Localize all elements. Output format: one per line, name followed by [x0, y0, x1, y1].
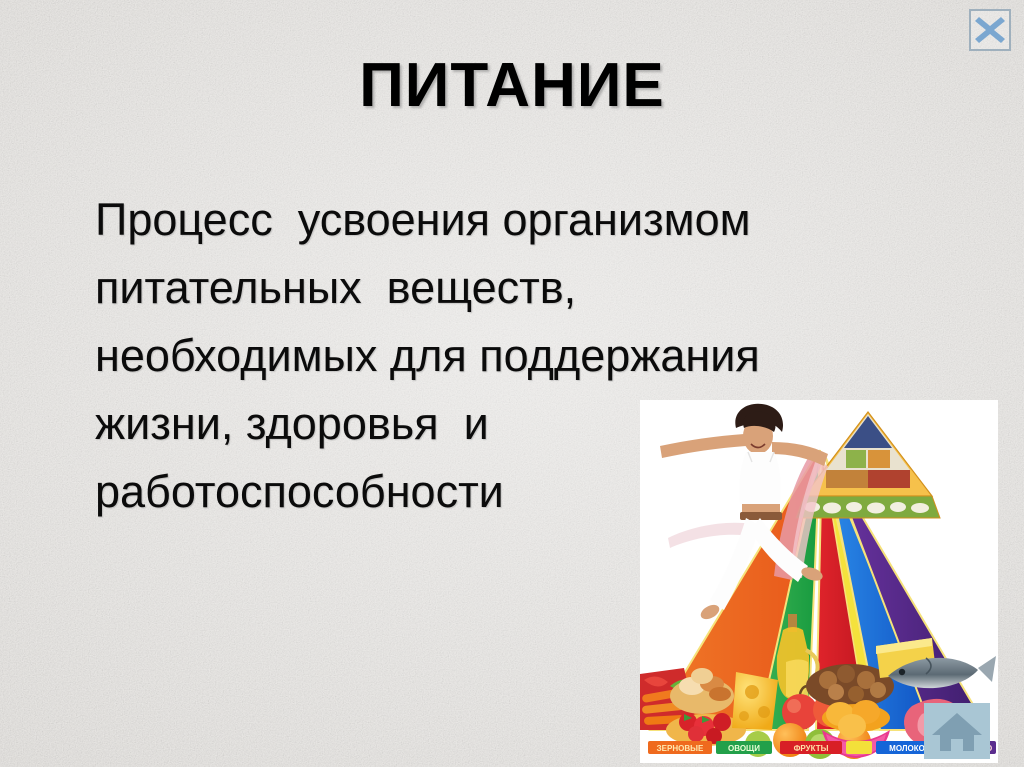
svg-text:ОВОЩИ: ОВОЩИ — [728, 744, 760, 753]
body-line-1: Процесс усвоения организмом — [95, 186, 975, 254]
band-fruits: ФРУКТЫ — [780, 741, 842, 754]
svg-text:ФРУКТЫ: ФРУКТЫ — [794, 744, 829, 753]
close-button[interactable] — [969, 9, 1011, 51]
home-icon — [924, 703, 990, 759]
slide-canvas: ПИТАНИЕ Процесс усвоения организмом пита… — [0, 0, 1024, 767]
band-oils — [846, 741, 872, 754]
band-grains: ЗЕРНОВЫЕ — [648, 741, 712, 754]
cheese — [732, 672, 778, 730]
band-vegetables: ОВОЩИ — [716, 741, 772, 754]
body-line-2: питательных веществ, — [95, 254, 975, 322]
body-line-3: необходимых для поддержания — [95, 322, 975, 390]
svg-text:ЗЕРНОВЫЕ: ЗЕРНОВЫЕ — [657, 744, 704, 753]
svg-text:МОЛОКО: МОЛОКО — [889, 744, 925, 753]
home-button[interactable] — [924, 703, 990, 759]
close-icon — [971, 11, 1009, 49]
page-title: ПИТАНИЕ — [0, 55, 1024, 117]
